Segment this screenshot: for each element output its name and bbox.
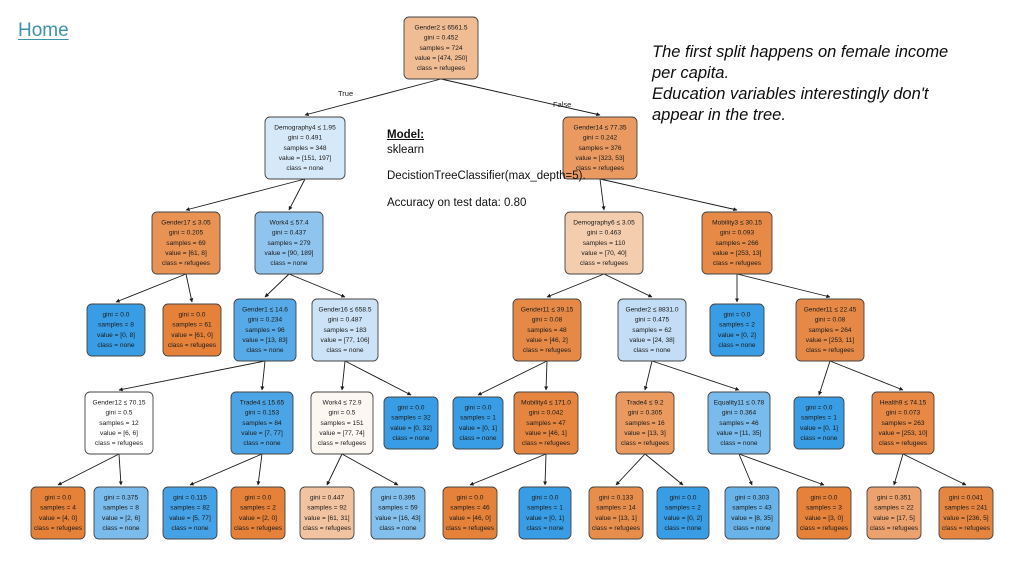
tree-node-line: class = none	[246, 347, 284, 354]
tree-node-line: samples = 46	[450, 505, 490, 512]
tree-node-line: samples = 2	[665, 505, 701, 512]
tree-edge	[342, 361, 345, 390]
tree-node-leaf[interactable]: gini = 0.0samples = 4value = [4, 0]class…	[31, 487, 85, 539]
tree-node-line: value = [46, 0]	[449, 515, 491, 522]
tree-node-leaf[interactable]: gini = 0.133samples = 14value = [13, 1]c…	[589, 487, 643, 539]
tree-node-line: class = none	[171, 525, 209, 532]
tree-node-line: samples = 8	[98, 322, 134, 329]
decision-tree-page: Home Gender2 ≤ 6561.5gini = 0.452samples…	[0, 0, 1024, 573]
tree-node-line: class = refugees	[417, 65, 466, 72]
tree-node-line: Mobility3 ≤ 30.15	[712, 219, 762, 226]
tree-node-line: class = refugees	[318, 440, 367, 447]
tree-node-line: class = refugees	[879, 440, 928, 447]
tree-node-line: Mobility4 ≤ 171.0	[521, 399, 571, 406]
tree-node-line: gini = 0.5	[106, 410, 133, 417]
tree-node-line: class = none	[270, 260, 308, 267]
tree-edge	[645, 361, 652, 390]
tree-node-leaf[interactable]: gini = 0.0samples = 1value = [0, 1]class…	[519, 487, 571, 539]
tree-node-line: value = [323, 53]	[576, 155, 625, 162]
tree-node-line: class = refugees	[162, 260, 211, 267]
tree-node-line: value = [3, 0]	[805, 515, 843, 522]
tree-edge	[616, 454, 645, 485]
tree-node-leaf[interactable]: gini = 0.0samples = 2value = [0, 2]class…	[657, 487, 709, 539]
annotation-line-1: The first split happens on female income…	[652, 42, 952, 84]
tree-node-line: class = refugees	[592, 525, 641, 532]
tree-node-line: gini = 0.0	[724, 311, 751, 318]
tree-node-line: gini = 0.093	[720, 230, 755, 237]
tree-node-line: value = [61, 0]	[171, 332, 213, 339]
tree-node-split[interactable]: Gender11 ≤ 22.45gini = 0.08samples = 264…	[796, 299, 864, 361]
tree-node-leaf[interactable]: gini = 0.115samples = 82value = [5, 77]c…	[163, 487, 217, 539]
model-note: Model: sklearn DecistionTreeClassifier(m…	[387, 128, 537, 211]
tree-edge	[737, 274, 830, 297]
tree-node-line: gini = 0.463	[587, 230, 622, 237]
tree-node-line: samples = 183	[323, 327, 366, 334]
tree-node-line: class = refugees	[234, 525, 283, 532]
tree-node-line: gini = 0.395	[381, 494, 416, 501]
tree-node-line: class = none	[102, 525, 140, 532]
tree-edge	[289, 179, 305, 210]
tree-node-line: class = none	[718, 342, 756, 349]
tree-node-leaf[interactable]: gini = 0.0samples = 8value = [0, 8]class…	[87, 304, 145, 356]
tree-edge	[327, 454, 342, 485]
tree-edge	[600, 179, 604, 210]
tree-edge	[470, 454, 546, 485]
tree-node-line: gini = 0.08	[815, 317, 846, 324]
tree-node-split[interactable]: Gender12 ≤ 70.15gini = 0.5samples = 12va…	[85, 392, 153, 454]
tree-node-line: samples = 32	[391, 415, 431, 422]
tree-edge	[894, 454, 903, 485]
tree-node-line: samples = 69	[166, 240, 206, 247]
tree-node-line: gini = 0.305	[628, 410, 663, 417]
tree-node-line: class = refugees	[446, 525, 495, 532]
tree-node-line: gini = 0.491	[288, 135, 323, 142]
tree-node-line: class = refugees	[168, 342, 217, 349]
tree-node-line: gini = 0.205	[169, 230, 204, 237]
tree-node-line: value = [17, 5]	[873, 515, 915, 522]
tree-node-line: samples = 4	[40, 505, 76, 512]
tree-edge	[600, 179, 737, 210]
tree-node-line: samples = 376	[578, 145, 621, 152]
tree-node-line: value = [16, 43]	[375, 515, 420, 522]
tree-node-line: class = none	[664, 525, 702, 532]
tree-node-line: class = none	[97, 342, 135, 349]
tree-node-split[interactable]: Gender16 ≤ 658.5gini = 0.487samples = 18…	[312, 299, 378, 361]
tree-node-line: value = [11, 35]	[717, 430, 762, 437]
tree-node-line: gini = 0.153	[245, 410, 280, 417]
tree-node-line: value = [0, 2]	[718, 332, 756, 339]
tree-node-line: value = [474, 250]	[415, 55, 468, 62]
annotation-line-2: Education variables interestingly don't …	[652, 84, 952, 126]
tree-node-line: Gender16 ≤ 658.5	[318, 306, 371, 313]
tree-node-line: samples = 1	[527, 505, 563, 512]
tree-node-line: value = [236, 5]	[943, 515, 988, 522]
tree-node-line: class = refugees	[713, 260, 762, 267]
tree-node-line: gini = 0.437	[272, 230, 307, 237]
tree-node-leaf[interactable]: gini = 0.375samples = 8value = [2, 6]cla…	[94, 487, 148, 539]
tree-node-line: Health9 ≤ 74.15	[880, 399, 927, 406]
tree-node-line: class = none	[326, 347, 364, 354]
tree-node-line: class = refugees	[522, 440, 571, 447]
tree-edge	[342, 454, 398, 485]
tree-edge	[546, 361, 547, 390]
tree-node-line: samples = 46	[719, 420, 759, 427]
tree-node-line: value = [0, 1]	[800, 425, 838, 432]
model-note-library: sklearn	[387, 143, 537, 158]
tree-edge	[116, 274, 186, 302]
tree-node-line: samples = 16	[625, 420, 665, 427]
tree-node-line: value = [13, 3]	[624, 430, 666, 437]
tree-node-line: value = [24, 38]	[629, 337, 674, 344]
tree-node-line: gini = 0.0	[457, 494, 484, 501]
tree-edge	[645, 454, 683, 485]
tree-node-line: gini = 0.351	[877, 494, 912, 501]
tree-node-line: class = refugees	[870, 525, 919, 532]
tree-node-line: samples = 110	[583, 240, 626, 247]
tree-node-leaf[interactable]: gini = 0.447samples = 92value = [61, 31]…	[300, 487, 354, 539]
tree-node-line: class = refugees	[303, 525, 352, 532]
model-note-classifier: DecistionTreeClassifier(max_depth=5).	[387, 169, 537, 184]
tree-node-line: value = [0, 32]	[390, 425, 432, 432]
tree-node-leaf[interactable]: gini = 0.0samples = 2value = [0, 2]class…	[710, 304, 764, 356]
tree-node-line: Gender1 ≤ 14.6	[242, 306, 288, 313]
tree-edge	[345, 361, 411, 395]
tree-edge	[604, 274, 652, 297]
tree-node-leaf[interactable]: gini = 0.0samples = 32value = [0, 32]cla…	[384, 397, 438, 449]
tree-node-line: class = refugees	[580, 260, 629, 267]
tree-node-line: value = [0, 8]	[97, 332, 135, 339]
tree-node-line: samples = 1	[801, 415, 837, 422]
tree-node-line: Work4 ≤ 57.4	[269, 219, 308, 226]
tree-node-split[interactable]: Trade4 ≤ 15.65gini = 0.153samples = 84va…	[231, 392, 293, 454]
tree-node-leaf[interactable]: gini = 0.395samples = 59value = [16, 43]…	[371, 487, 425, 539]
tree-node-line: value = [61, 31]	[304, 515, 349, 522]
tree-node-split[interactable]: Equality11 ≤ 0.78gini = 0.364samples = 4…	[708, 392, 770, 454]
tree-node-line: gini = 0.0	[245, 494, 272, 501]
tree-edge	[739, 454, 752, 485]
tree-node-leaf[interactable]: gini = 0.041samples = 241value = [236, 5…	[939, 487, 993, 539]
tree-node-split[interactable]: Demography4 ≤ 1.95gini = 0.491samples = …	[265, 117, 345, 179]
tree-node-line: value = [4, 0]	[39, 515, 77, 522]
tree-node-leaf[interactable]: gini = 0.0samples = 46value = [46, 0]cla…	[443, 487, 497, 539]
tree-node-line: gini = 0.242	[583, 135, 618, 142]
tree-edge	[262, 361, 265, 390]
tree-node-line: gini = 0.042	[529, 410, 564, 417]
tree-node-line: gini = 0.041	[949, 494, 984, 501]
tree-node-split[interactable]: Mobility4 ≤ 171.0gini = 0.042samples = 4…	[514, 392, 578, 454]
tree-node-line: class = refugees	[95, 440, 144, 447]
tree-node-leaf[interactable]: gini = 0.0samples = 2value = [2, 0]class…	[231, 487, 285, 539]
tree-node-line: gini = 0.375	[104, 494, 139, 501]
tree-node-line: value = [2, 0]	[239, 515, 277, 522]
tree-node-leaf[interactable]: gini = 0.0samples = 3value = [3, 0]class…	[797, 487, 851, 539]
tree-node-line: samples = 279	[267, 240, 310, 247]
tree-edge	[119, 361, 265, 390]
tree-node-line: class = none	[459, 435, 497, 442]
tree-node-split[interactable]: Gender2 ≤ 6561.5gini = 0.452samples = 72…	[404, 17, 478, 79]
tree-node-line: samples = 2	[240, 505, 276, 512]
tree-node-line: samples = 82	[170, 505, 210, 512]
tree-node-line: samples = 62	[632, 327, 672, 334]
tree-node-line: samples = 47	[526, 420, 566, 427]
tree-node-line: samples = 48	[527, 327, 567, 334]
tree-edge	[58, 454, 119, 485]
tree-node-line: class = refugees	[621, 440, 670, 447]
tree-node-line: class = refugees	[800, 525, 849, 532]
tree-node-split[interactable]: Trade4 ≤ 9.2gini = 0.305samples = 16valu…	[616, 392, 674, 454]
tree-node-line: gini = 0.115	[173, 494, 207, 501]
tree-node-line: samples = 84	[242, 420, 282, 427]
tree-node-line: class = none	[633, 347, 671, 354]
tree-node-line: Demography4 ≤ 1.95	[274, 124, 336, 131]
tree-node-line: value = [13, 1]	[595, 515, 637, 522]
tree-node-line: value = [253, 11]	[806, 337, 855, 344]
tree-node-line: value = [5, 77]	[169, 515, 211, 522]
tree-node-line: gini = 0.0	[670, 494, 697, 501]
tree-node-line: value = [77, 106]	[321, 337, 370, 344]
tree-node-line: value = [13, 83]	[242, 337, 287, 344]
branch-labels: TrueFalse	[338, 89, 571, 109]
tree-node-line: gini = 0.487	[328, 317, 363, 324]
tree-node-line: samples = 266	[715, 240, 758, 247]
tree-edge	[258, 454, 262, 485]
tree-node-line: Trade4 ≤ 15.65	[240, 399, 285, 406]
tree-node-line: gini = 0.0	[465, 404, 492, 411]
tree-edge	[478, 361, 547, 395]
tree-node-line: class = refugees	[806, 347, 855, 354]
tree-edge	[739, 454, 824, 485]
tree-node-line: Work4 ≤ 72.9	[322, 399, 361, 406]
tree-edge	[545, 454, 546, 485]
tree-node-split[interactable]: Gender11 ≤ 39.15gini = 0.08samples = 48v…	[513, 299, 581, 361]
tree-node-line: samples = 92	[307, 505, 347, 512]
tree-node-line: value = [61, 8]	[165, 250, 207, 257]
model-note-heading: Model:	[387, 128, 537, 143]
tree-node-leaf[interactable]: gini = 0.351samples = 22value = [17, 5]c…	[867, 487, 921, 539]
tree-node-line: Equality11 ≤ 0.78	[714, 399, 765, 406]
tree-node-split[interactable]: Gender1 ≤ 14.6gini = 0.234samples = 96va…	[234, 299, 296, 361]
tree-node-line: gini = 0.447	[310, 494, 345, 501]
tree-node-line: samples = 14	[596, 505, 636, 512]
tree-node-line: value = [8, 35]	[731, 515, 773, 522]
tree-node-line: gini = 0.0	[532, 494, 559, 501]
tree-node-line: samples = 12	[99, 420, 139, 427]
tree-node-line: Gender11 ≤ 22.45	[804, 306, 857, 313]
tree-node-line: gini = 0.0	[103, 311, 130, 318]
tree-node-line: class = none	[526, 525, 564, 532]
tree-node-line: gini = 0.0	[806, 404, 833, 411]
tree-node-line: samples = 8	[103, 505, 139, 512]
tree-node-line: samples = 2	[719, 322, 755, 329]
tree-node-line: gini = 0.303	[735, 494, 770, 501]
tree-node-line: value = [7, 77]	[241, 430, 283, 437]
tree-node-line: class = none	[243, 440, 281, 447]
tree-node-split[interactable]: Mobility3 ≤ 30.15gini = 0.093samples = 2…	[702, 212, 772, 274]
tree-node-line: Gender14 ≤ 77.35	[573, 124, 626, 131]
tree-node-line: Gender11 ≤ 39.15	[521, 306, 574, 313]
tree-edge	[441, 79, 600, 115]
tree-node-line: Demography6 ≤ 3.05	[573, 219, 635, 226]
tree-edge	[265, 274, 289, 297]
tree-edge	[903, 454, 966, 485]
tree-node-line: value = [0, 1]	[526, 515, 564, 522]
tree-node-line: class = none	[733, 525, 771, 532]
tree-node-line: value = [151, 197]	[279, 155, 332, 162]
tree-node-line: value = [0, 2]	[664, 515, 702, 522]
tree-node-line: gini = 0.0	[398, 404, 425, 411]
tree-node-line: value = [2, 6]	[102, 515, 140, 522]
tree-node-line: class = none	[800, 435, 838, 442]
tree-node-line: value = [0, 1]	[459, 425, 497, 432]
tree-node-line: class = none	[720, 440, 758, 447]
tree-node-line: Trade4 ≤ 9.2	[626, 399, 663, 406]
tree-node-leaf[interactable]: gini = 0.0samples = 1value = [0, 1]class…	[453, 397, 503, 449]
tree-edge	[119, 454, 121, 485]
tree-node-line: class = none	[379, 525, 417, 532]
tree-node-line: class = refugees	[523, 347, 572, 354]
tree-node-line: Gender2 ≤ 6561.5	[414, 24, 467, 31]
tree-node-line: value = [253, 10]	[879, 430, 928, 437]
tree-node-line: gini = 0.0	[179, 311, 206, 318]
tree-node-line: Gender17 ≤ 3.05	[161, 219, 211, 226]
tree-node-line: samples = 61	[172, 322, 212, 329]
tree-node-line: value = [70, 40]	[581, 250, 626, 257]
tree-edge	[186, 274, 192, 302]
tree-node-split[interactable]: Gender17 ≤ 3.05gini = 0.205samples = 69v…	[152, 212, 220, 274]
tree-edge	[819, 361, 830, 395]
tree-edge	[289, 274, 345, 297]
tree-node-line: samples = 22	[874, 505, 914, 512]
tree-edge	[547, 274, 604, 297]
tree-node-line: Gender2 ≤ 8831.0	[625, 306, 678, 313]
tree-node-line: gini = 0.0	[811, 494, 838, 501]
tree-node-line: samples = 241	[944, 505, 987, 512]
tree-edge	[190, 454, 262, 485]
tree-node-line: gini = 0.5	[329, 410, 356, 417]
tree-node-leaf[interactable]: gini = 0.0samples = 61value = [61, 0]cla…	[163, 304, 221, 356]
tree-node-leaf[interactable]: gini = 0.0samples = 1value = [0, 1]class…	[794, 397, 844, 449]
tree-node-line: samples = 263	[881, 420, 924, 427]
tree-node-line: samples = 348	[283, 145, 326, 152]
tree-node-split[interactable]: Gender2 ≤ 8831.0gini = 0.475samples = 62…	[618, 299, 686, 361]
tree-node-line: class = none	[286, 165, 324, 172]
tree-node-line: gini = 0.364	[722, 410, 757, 417]
tree-node-line: samples = 724	[419, 45, 462, 52]
tree-node-split[interactable]: Demography6 ≤ 3.05gini = 0.463samples = …	[565, 212, 643, 274]
tree-node-line: class = refugees	[34, 525, 83, 532]
tree-node-line: Gender12 ≤ 70.15	[92, 399, 145, 406]
tree-node-line: gini = 0.452	[424, 35, 459, 42]
tree-node-line: samples = 3	[806, 505, 842, 512]
tree-node-split[interactable]: Health9 ≤ 74.15gini = 0.073samples = 263…	[872, 392, 934, 454]
tree-node-line: class = none	[392, 435, 430, 442]
tree-node-split[interactable]: Work4 ≤ 57.4gini = 0.437samples = 279val…	[255, 212, 323, 274]
branch-label-false: False	[553, 100, 571, 109]
tree-node-line: samples = 59	[378, 505, 418, 512]
tree-node-line: value = [77, 74]	[319, 430, 364, 437]
tree-node-split[interactable]: Work4 ≤ 72.9gini = 0.5samples = 151value…	[311, 392, 373, 454]
tree-edge	[652, 361, 739, 390]
tree-node-line: gini = 0.073	[886, 410, 921, 417]
tree-node-line: gini = 0.0	[45, 494, 72, 501]
tree-node-line: value = [253, 13]	[713, 250, 762, 257]
tree-node-line: value = [46, 2]	[526, 337, 568, 344]
tree-node-line: samples = 264	[808, 327, 851, 334]
tree-node-line: gini = 0.133	[599, 494, 634, 501]
tree-node-line: value = [6, 6]	[100, 430, 138, 437]
model-note-accuracy: Accuracy on test data: 0.80	[387, 196, 537, 211]
tree-edge	[830, 361, 903, 390]
tree-node-line: value = [46, 1]	[525, 430, 567, 437]
tree-node-line: value = [90, 189]	[265, 250, 314, 257]
tree-node-line: gini = 0.475	[635, 317, 670, 324]
tree-node-line: samples = 96	[245, 327, 285, 334]
annotation-text: The first split happens on female income…	[652, 42, 952, 126]
tree-node-line: gini = 0.234	[248, 317, 283, 324]
tree-node-line: samples = 43	[732, 505, 772, 512]
tree-node-line: samples = 1	[460, 415, 496, 422]
branch-label-true: True	[338, 89, 353, 98]
tree-edge	[186, 179, 305, 210]
tree-node-leaf[interactable]: gini = 0.303samples = 43value = [8, 35]c…	[725, 487, 779, 539]
tree-node-line: samples = 151	[320, 420, 363, 427]
tree-node-line: gini = 0.08	[532, 317, 563, 324]
tree-node-line: class = refugees	[942, 525, 991, 532]
tree-edge	[305, 79, 441, 115]
